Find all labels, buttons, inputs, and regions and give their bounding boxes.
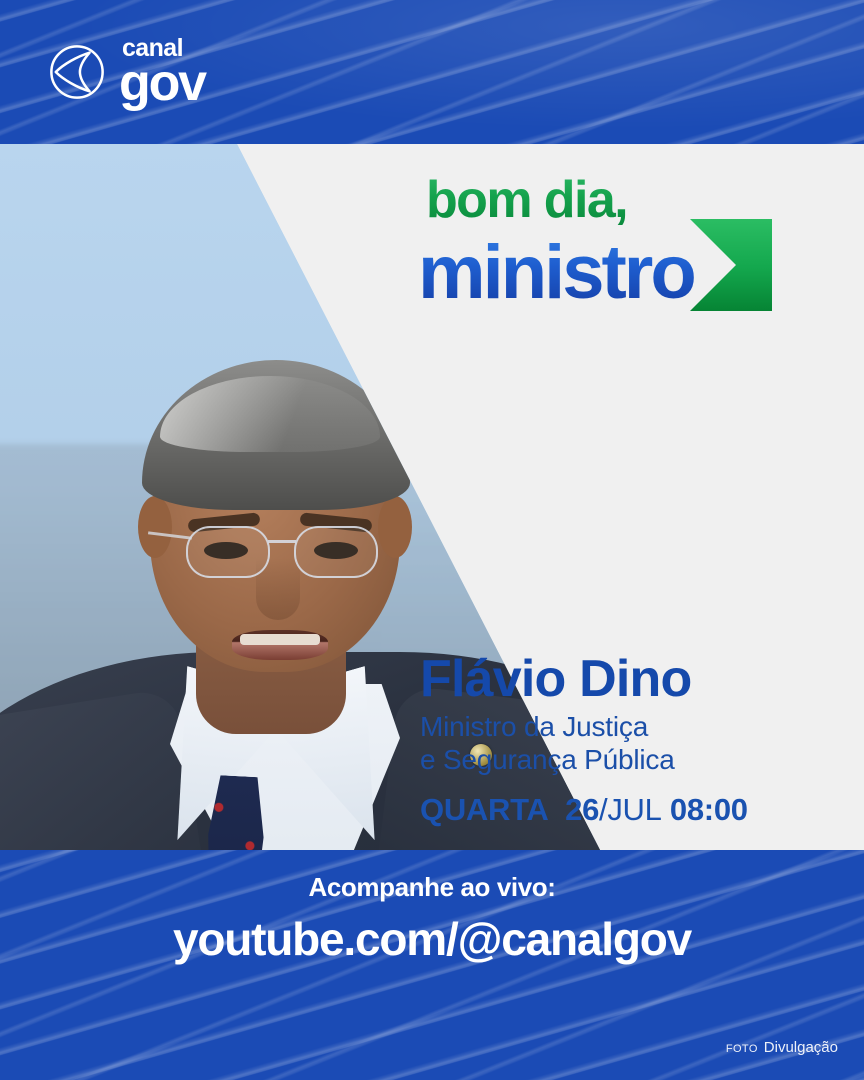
photo-teeth [240, 634, 320, 645]
speaker-role: Ministro da Justiça e Segurança Pública [420, 710, 840, 776]
speaker-name: Flávio Dino [420, 652, 840, 706]
photo-eyeglass-lens-left [186, 526, 270, 578]
broadcast-announcement-poster: canal gov [0, 0, 864, 1080]
photo-ear-left [138, 496, 172, 558]
speaker-role-line1: Ministro da Justiça [420, 710, 840, 743]
broadcast-month: JUL [607, 792, 661, 827]
photo-ear-right [378, 496, 412, 558]
broadcast-time: 08:00 [670, 792, 748, 827]
program-title-line2-row: ministro [418, 219, 848, 309]
broadcast-weekday: QUARTA [420, 792, 549, 827]
photo-credit: FOTO Divulgação [726, 1039, 838, 1056]
program-title-line2: ministro [418, 237, 694, 309]
logo-gov-text: gov [119, 61, 205, 106]
speaker-info: Flávio Dino Ministro da Justiça e Segura… [420, 652, 840, 828]
photo-eyeglass-lens-right [294, 526, 378, 578]
program-title-line1: bom dia, [426, 176, 848, 225]
photo-credit-label: FOTO [726, 1043, 758, 1055]
broadcast-day: 26 [565, 792, 599, 827]
canal-gov-wordmark: canal gov [119, 38, 205, 105]
photo-eyeglass-bridge [268, 540, 296, 543]
youtube-channel-url[interactable]: youtube.com/@canalgov [173, 912, 691, 966]
speaker-role-line2: e Segurança Pública [420, 743, 840, 776]
watch-live-label: Acompanhe ao vivo: [308, 872, 555, 903]
program-title: bom dia, ministro [418, 176, 848, 309]
photo-credit-value: Divulgação [764, 1039, 838, 1056]
green-play-arrow-icon [690, 219, 772, 311]
canal-gov-logo[interactable]: canal gov [48, 38, 205, 105]
broadcast-datetime: QUARTA 26/JUL 08:00 [420, 792, 840, 828]
canal-gov-circle-icon [48, 43, 106, 101]
